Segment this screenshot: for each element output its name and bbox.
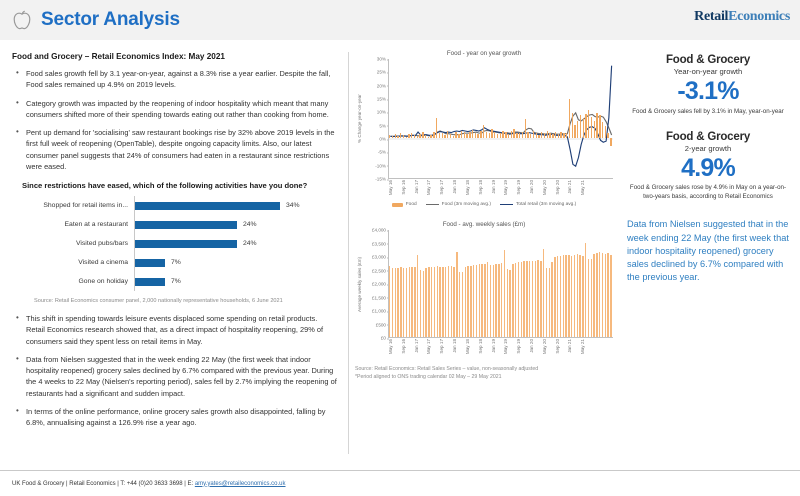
bar	[577, 121, 578, 138]
bar	[541, 132, 542, 138]
bar	[518, 262, 519, 337]
x-axis-ticks: May 16Sep 16Jan 17May 17Sep 17Jan 18May …	[388, 338, 613, 360]
bar	[593, 254, 594, 337]
x-axis-tick: May 18	[465, 339, 470, 354]
plot-area	[388, 230, 613, 338]
bar	[519, 133, 520, 138]
bar	[509, 270, 510, 338]
kpi-note: Food & Grocery sales rose by 4.9% in May…	[625, 184, 791, 202]
bar	[411, 133, 412, 138]
bar	[444, 135, 445, 138]
bar	[397, 136, 398, 138]
kpi-card-yoy: Food & Grocery Year-on-year growth -3.1%…	[625, 54, 791, 117]
bar	[473, 265, 474, 337]
kpi-title: Food & Grocery	[625, 54, 791, 66]
footer-email-link[interactable]: amy.yates@retaileconomics.co.uk	[195, 481, 286, 487]
bar	[610, 138, 611, 146]
bar	[439, 133, 440, 138]
bar-track: 7%	[134, 253, 338, 272]
chart-legend: Food Food (3m moving avg.) Total retail …	[355, 202, 613, 207]
y-axis-tick: -5%	[378, 150, 386, 155]
bar	[508, 134, 509, 138]
bar	[574, 255, 575, 337]
right-column: Food & Grocery Year-on-year growth -3.1%…	[617, 48, 799, 464]
legend-label: Total retail (3m moving avg.)	[516, 202, 576, 207]
bar	[563, 133, 564, 138]
x-axis-tick: Jan 19	[491, 339, 496, 353]
bar	[392, 268, 393, 337]
bar	[448, 266, 449, 337]
middle-column: Food - year on year growth % Change year…	[349, 48, 617, 464]
kpi-value: -3.1%	[625, 77, 791, 106]
bar	[547, 131, 548, 138]
bar	[565, 255, 566, 337]
bar	[493, 265, 494, 337]
bar	[480, 131, 481, 138]
bar	[525, 119, 526, 138]
bar	[577, 254, 578, 337]
list-item: This shift in spending towards leisure e…	[12, 313, 338, 347]
left-column: Food and Grocery – Retail Economics Inde…	[0, 48, 348, 464]
bar-value: 24%	[243, 221, 257, 228]
bar	[523, 261, 524, 337]
y-axis-tick: 5%	[379, 123, 386, 128]
y-axis-tick: 15%	[377, 97, 386, 102]
bar	[583, 118, 584, 138]
chart-source-note: Source: Retail Economics: Retail Sales S…	[355, 366, 613, 382]
y-axis-tick: £500	[376, 322, 386, 327]
bar	[540, 261, 541, 337]
chart-title: Food - year on year growth	[355, 50, 613, 57]
legend-item-food: Food	[392, 202, 417, 207]
bar	[599, 115, 600, 138]
footer-contact-text: UK Food & Grocery | Retail Economics | T…	[12, 481, 195, 487]
bar	[555, 132, 556, 138]
bar-fill	[135, 221, 237, 229]
bar	[489, 133, 490, 138]
x-axis-tick: Sep 20	[555, 339, 560, 354]
bar	[439, 267, 440, 337]
y-axis-tick: £1,000	[372, 309, 386, 314]
bar	[456, 252, 457, 337]
bar	[395, 134, 396, 138]
legend-swatch-icon	[426, 204, 439, 206]
bar	[552, 134, 553, 138]
bar	[477, 134, 478, 138]
bar	[526, 261, 527, 337]
chart-food-avg-weekly-sales: Food - avg. weekly sales (£m) Average we…	[355, 221, 613, 382]
list-item: Data from Nielsen suggested that in the …	[12, 354, 338, 399]
legend-item-food-ma: Food (3m moving avg.)	[426, 202, 491, 207]
bar	[400, 267, 401, 337]
bar	[563, 255, 564, 337]
kpi-spacer	[625, 117, 791, 131]
bar	[591, 117, 592, 138]
x-axis-tick: Sep 18	[478, 180, 483, 195]
bar	[392, 136, 393, 138]
bar	[549, 268, 550, 337]
bar	[447, 131, 448, 138]
y-axis-ticks: 30%25%20%15%10%5%0%-5%-10%-15%	[364, 59, 388, 179]
bar	[428, 137, 429, 138]
x-axis-tick: Jan 20	[529, 180, 534, 194]
bar	[484, 264, 485, 337]
bar	[591, 259, 592, 337]
bar	[431, 267, 432, 337]
bar	[569, 99, 570, 138]
bar	[505, 132, 506, 138]
y-axis-tick: £3,500	[372, 241, 386, 246]
x-axis-tick: Jan 19	[491, 180, 496, 194]
x-axis-tick: May 21	[580, 339, 585, 354]
bar	[554, 257, 555, 337]
bar-label: Eaten at a restaurant	[16, 221, 134, 228]
bar	[414, 267, 415, 337]
bar	[536, 133, 537, 138]
plot-area	[388, 59, 613, 179]
bar	[451, 266, 452, 337]
y-axis-tick: 20%	[377, 83, 386, 88]
retail-economics-logo: RetailEconomics	[694, 7, 790, 25]
bar-value: 7%	[171, 278, 181, 285]
bar	[422, 132, 423, 138]
x-axis-tick: Jan 17	[414, 339, 419, 353]
y-axis-tick: £2,000	[372, 282, 386, 287]
kpi-card-two-year: Food & Grocery 2-year growth 4.9% Food &…	[625, 131, 791, 203]
x-axis-tick: May 18	[465, 180, 470, 195]
y-axis-tick: £4,000	[372, 228, 386, 233]
bar	[419, 134, 420, 138]
bar	[453, 136, 454, 138]
logo-text-retail: Retail	[694, 9, 728, 24]
bar	[530, 134, 531, 138]
bar	[408, 134, 409, 138]
kpi-subtitle: 2-year growth	[625, 144, 791, 153]
kpi-value: 4.9%	[625, 154, 791, 183]
bar	[490, 265, 491, 337]
chart-title: Food - avg. weekly sales (£m)	[355, 221, 613, 228]
x-axis-tick: Sep 16	[401, 180, 406, 195]
x-axis-tick: May 17	[426, 339, 431, 354]
table-row: Shopped for retail items in... 34%	[16, 196, 338, 215]
y-axis-tick: £2,500	[372, 268, 386, 273]
bar	[469, 132, 470, 138]
bar	[389, 266, 390, 337]
bar	[512, 264, 513, 337]
bar	[571, 256, 572, 337]
bar	[486, 132, 487, 138]
bar	[453, 267, 454, 337]
bar	[437, 266, 438, 337]
bar	[458, 134, 459, 138]
page-header: Sector Analysis RetailEconomics	[0, 0, 800, 40]
kpi-title: Food & Grocery	[625, 131, 791, 143]
page-title: Sector Analysis	[41, 9, 180, 31]
survey-bar-chart: Shopped for retail items in... 34% Eaten…	[16, 196, 338, 291]
table-row: Visited pubs/bars 24%	[16, 234, 338, 253]
x-axis-tick: Sep 20	[555, 180, 560, 195]
bar	[425, 268, 426, 337]
bar	[602, 122, 603, 138]
bar	[596, 113, 597, 138]
legend-label: Food	[406, 202, 417, 207]
bar	[588, 110, 589, 138]
x-axis-tick: May 19	[503, 339, 508, 354]
bar	[389, 135, 390, 138]
bar	[501, 263, 502, 337]
bar	[445, 267, 446, 337]
bar	[607, 133, 608, 138]
bar	[417, 255, 418, 337]
bar	[500, 133, 501, 138]
bar	[580, 115, 581, 138]
y-axis-tick: -15%	[375, 177, 386, 182]
apple-icon	[12, 9, 32, 31]
bar	[430, 135, 431, 138]
report-body: Food and Grocery – Retail Economics Inde…	[0, 40, 800, 464]
bar	[507, 269, 508, 337]
bar	[465, 267, 466, 337]
bar	[543, 249, 544, 337]
pull-quote: Data from Nielsen suggested that in the …	[625, 218, 791, 283]
bar	[515, 263, 516, 337]
bar-fill	[135, 240, 237, 248]
x-axis-tick: Sep 16	[401, 339, 406, 354]
section-title: Food and Grocery – Retail Economics Inde…	[12, 52, 338, 61]
x-axis-tick: Sep 19	[516, 180, 521, 195]
chart-food-yoy-growth: Food - year on year growth % Change year…	[355, 50, 613, 207]
bar-value: 7%	[171, 259, 181, 266]
survey-source-note: Source: Retail Economics consumer panel,…	[34, 298, 338, 304]
bar	[532, 261, 533, 337]
x-axis-tick: Jan 17	[414, 180, 419, 194]
bar	[497, 134, 498, 138]
series-line	[390, 66, 611, 167]
legend-swatch-icon	[392, 203, 403, 207]
bar	[472, 130, 473, 138]
legend-swatch-icon	[500, 204, 513, 206]
bar	[521, 262, 522, 337]
bar	[483, 125, 484, 138]
x-axis-ticks: May 16Sep 16Jan 17May 17Sep 17Jan 18May …	[388, 179, 613, 201]
bar	[470, 266, 471, 337]
bar	[596, 253, 597, 337]
kpi-subtitle: Year-on-year growth	[625, 67, 791, 76]
x-axis-tick: Sep 18	[478, 339, 483, 354]
bar	[491, 129, 492, 138]
y-axis-tick: 10%	[377, 110, 386, 115]
bar	[403, 268, 404, 337]
bar-track: 24%	[134, 215, 338, 234]
bar	[464, 132, 465, 138]
bar	[605, 126, 606, 138]
bar	[442, 267, 443, 337]
bar-value: 24%	[243, 240, 257, 247]
bar	[582, 256, 583, 337]
bar	[479, 264, 480, 337]
y-axis-tick: £1,500	[372, 295, 386, 300]
bar	[417, 136, 418, 138]
bar	[599, 252, 600, 337]
bar	[538, 135, 539, 138]
bar	[544, 133, 545, 138]
bar	[504, 250, 505, 337]
bar	[585, 114, 586, 138]
bar	[466, 134, 467, 138]
bar	[602, 253, 603, 337]
bar-fill	[135, 278, 165, 286]
bar	[560, 256, 561, 337]
bar	[481, 264, 482, 337]
bar	[551, 262, 552, 337]
bar-fill	[135, 259, 165, 267]
bar	[434, 267, 435, 337]
survey-question: Since restrictions have eased, which of …	[22, 181, 338, 190]
bar	[568, 255, 569, 337]
bar	[607, 253, 608, 337]
chart-source-line-1: Source: Retail Economics: Retail Sales S…	[355, 366, 613, 374]
bar	[572, 113, 573, 138]
chart-source-line-2: *Period aligned to ONS trading calendar …	[355, 374, 613, 382]
bar	[425, 135, 426, 138]
bar	[574, 125, 575, 138]
bar	[442, 133, 443, 138]
y-axis-label: % Change year-on-year	[355, 59, 364, 179]
table-row: Eaten at a restaurant 24%	[16, 215, 338, 234]
legend-label: Food (3m moving avg.)	[442, 202, 491, 207]
bar	[406, 268, 407, 337]
x-axis-tick: May 20	[542, 339, 547, 354]
bar	[522, 132, 523, 138]
bar-value: 34%	[286, 202, 300, 209]
bar-label: Visited pubs/bars	[16, 240, 134, 247]
table-row: Gone on holiday 7%	[16, 272, 338, 291]
bar	[409, 267, 410, 337]
bar	[527, 132, 528, 138]
bullet-list-top: Food sales growth fell by 3.1 year-on-ye…	[12, 68, 338, 172]
bar	[537, 260, 538, 337]
plot-row: Average weekly sales (£m) £4,000£3,500£3…	[355, 230, 613, 338]
x-axis-tick: Jan 18	[452, 339, 457, 353]
bar	[400, 133, 401, 138]
y-axis-tick: -10%	[375, 163, 386, 168]
y-axis-label: Average weekly sales (£m)	[355, 230, 364, 338]
bar	[560, 132, 561, 138]
y-axis-ticks: £4,000£3,500£3,000£2,500£2,000£1,500£1,0…	[364, 230, 388, 338]
bar	[498, 264, 499, 337]
logo-text-economics: Economics	[728, 9, 790, 24]
x-axis-tick: May 16	[388, 339, 393, 354]
page-footer: UK Food & Grocery | Retail Economics | T…	[0, 470, 800, 496]
list-item: In terms of the online performance, onli…	[12, 406, 338, 429]
x-axis-tick: May 16	[388, 180, 393, 195]
bar	[585, 243, 586, 337]
bar	[588, 259, 589, 337]
legend-item-total-retail-ma: Total retail (3m moving avg.)	[500, 202, 576, 207]
bar	[462, 272, 463, 337]
bar	[461, 131, 462, 138]
y-axis-tick: 0%	[379, 137, 386, 142]
bar	[546, 268, 547, 337]
plot-row: % Change year-on-year 30%25%20%15%10%5%0…	[355, 59, 613, 179]
bar	[605, 254, 606, 337]
bar	[549, 133, 550, 138]
bar-label: Visited a cinema	[16, 259, 134, 266]
bar	[610, 255, 611, 337]
list-item: Pent up demand for 'socialising' saw res…	[12, 127, 338, 172]
bar	[513, 129, 514, 138]
bar	[558, 134, 559, 138]
bar-track: 7%	[134, 272, 338, 291]
x-axis-tick: Jan 21	[567, 180, 572, 194]
bar	[459, 272, 460, 337]
bar-label: Shopped for retail items in...	[16, 202, 134, 209]
footer-text: UK Food & Grocery | Retail Economics | T…	[12, 481, 286, 487]
bar	[423, 271, 424, 337]
list-item: Food sales growth fell by 3.1 year-on-ye…	[12, 68, 338, 91]
bar	[516, 133, 517, 138]
bar	[533, 131, 534, 138]
bar	[428, 267, 429, 337]
x-axis-tick: Jan 21	[567, 339, 572, 353]
x-axis-tick: Jan 18	[452, 180, 457, 194]
bar	[411, 267, 412, 337]
bar	[476, 265, 477, 337]
list-item: Category growth was impacted by the reop…	[12, 98, 338, 121]
bar	[414, 135, 415, 138]
bar	[450, 134, 451, 138]
table-row: Visited a cinema 7%	[16, 253, 338, 272]
kpi-note: Food & Grocery sales fell by 3.1% in May…	[625, 108, 791, 117]
x-axis-tick: May 20	[542, 180, 547, 195]
bar	[511, 131, 512, 138]
bar	[502, 131, 503, 138]
bar	[455, 132, 456, 138]
bar	[566, 133, 567, 138]
bar-track: 34%	[134, 196, 338, 215]
x-axis-tick: Sep 17	[439, 339, 444, 354]
bar-label: Gone on holiday	[16, 278, 134, 285]
bar	[406, 137, 407, 138]
bar	[420, 270, 421, 337]
bar	[397, 268, 398, 337]
bar	[487, 262, 488, 337]
bar	[594, 121, 595, 138]
bar	[433, 132, 434, 138]
y-axis-tick: 25%	[377, 70, 386, 75]
bar	[395, 268, 396, 337]
x-axis-tick: Sep 19	[516, 339, 521, 354]
bar	[495, 264, 496, 337]
x-axis-tick: May 17	[426, 180, 431, 195]
x-axis-tick: Sep 17	[439, 180, 444, 195]
y-axis-tick: £3,000	[372, 255, 386, 260]
bar-track: 24%	[134, 234, 338, 253]
x-axis-tick: Jan 20	[529, 339, 534, 353]
y-axis-tick: £0	[381, 336, 386, 341]
bar	[467, 266, 468, 337]
x-axis-tick: May 19	[503, 180, 508, 195]
bar	[529, 261, 530, 337]
bar	[579, 255, 580, 337]
bar	[436, 118, 437, 138]
report-page: Sector Analysis RetailEconomics Food and…	[0, 0, 800, 496]
y-axis-tick: 30%	[377, 57, 386, 62]
bar	[403, 135, 404, 138]
bar	[557, 256, 558, 337]
bar	[535, 261, 536, 337]
bullet-list-bottom: This shift in spending towards leisure e…	[12, 313, 338, 428]
